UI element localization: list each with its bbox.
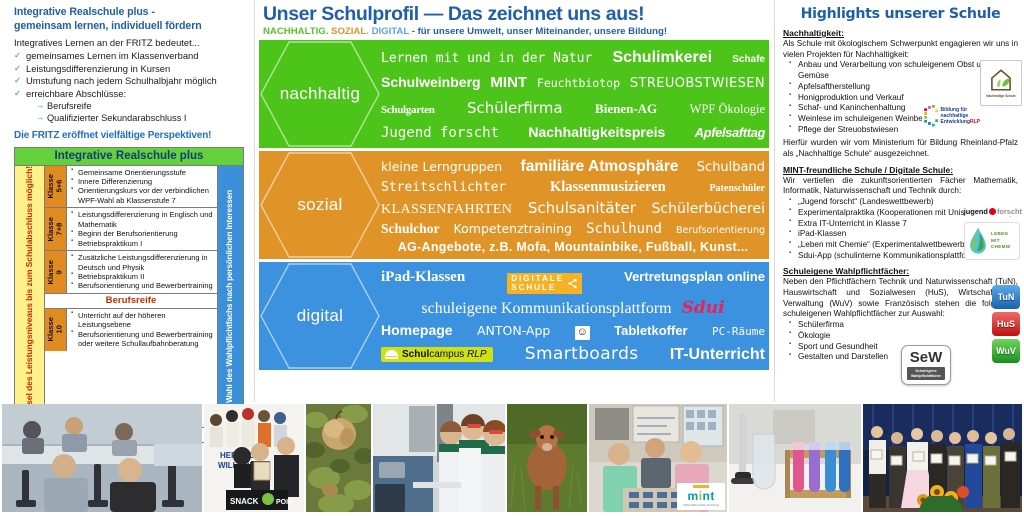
list-item: Orientierungskurs vor der verbindlichen … — [71, 186, 214, 205]
list-item: ✓erreichbare Abschlüsse: — [14, 88, 246, 101]
hexagon-sozial: sozial — [259, 151, 381, 259]
left-title: Integrative Realschule plus - gemeinsam … — [14, 6, 246, 33]
smiley-icon: ☺ — [575, 326, 590, 340]
word-kleine-lerngruppen: kleine Lerngruppen — [381, 159, 502, 174]
photo-graduation-art — [863, 404, 1022, 512]
word-feuchtbiotop: Feuchtbiotop — [537, 76, 620, 90]
grade-label-10: Klasse10 — [45, 309, 67, 351]
wordcloud-row: Homepage ANTON-App ☺ Tabletkoffer PC-Räu… — [381, 322, 765, 340]
photo-chemistry-art — [373, 404, 505, 512]
highlights-title: Highlights unserer Schule — [783, 6, 1018, 22]
logo-bne-rlp: Bildung für nachhaltige EntwicklungRLP — [922, 93, 980, 139]
list-item: Betriebspraktikum II — [71, 272, 214, 281]
badge-sdui: Sdui — [682, 298, 725, 318]
list-item: Leistungsdifferenzierung in Englisch und… — [71, 210, 214, 229]
grade-content-9: Zusätzliche Leistungsdifferenzierung in … — [67, 251, 217, 293]
word-tabletkoffer: Tabletkoffer — [614, 323, 687, 338]
word-lernen-natur: Lernen mit und in der Natur — [381, 51, 592, 66]
left-intro: Integratives Lernen an der FRITZ bedeute… — [14, 37, 246, 48]
section-heading: Schuleigene Wahlpflichtfächer: — [783, 266, 1018, 276]
svg-text:SNACK: SNACK — [230, 497, 259, 506]
word-mint: MINT — [490, 74, 527, 91]
mint-cap-icon — [693, 485, 709, 488]
table-row: Klasse10 Unterricht auf der höheren Leis… — [45, 309, 217, 351]
arrow-right-icon: → — [36, 112, 45, 123]
word-schulsanitaeter: Schulsanitäter — [528, 199, 636, 217]
school-profile-poster: Integrative Realschule plus - gemeinsam … — [0, 0, 1024, 516]
hexagon-label: nachhaltig — [280, 84, 361, 104]
check-icon: ✓ — [14, 63, 21, 74]
house-leaf-icon — [988, 68, 1014, 92]
list-item: Pflege der Streuobstwiesen — [789, 125, 1018, 136]
wordcloud-row: kleine Lerngruppen familiäre Atmosphäre … — [381, 158, 765, 176]
section-paragraph: Neben den Pflichtfächern Technik und Nat… — [783, 277, 1018, 320]
list-item: Gemeinsame Orientierungsstufe — [71, 168, 214, 177]
word-patenschueler: Patenschüler — [709, 183, 765, 194]
table-row: Klasse7+8 Leistungsdifferenzierung in En… — [45, 208, 217, 251]
word-schulimkerei: Schulimkerei — [612, 49, 712, 67]
list-item: Ökologie — [789, 331, 1018, 342]
circle-icon — [989, 208, 996, 215]
right-column: Highlights unserer Schule Nachhaltigkeit… — [775, 0, 1024, 402]
section-paragraph: Als Schule mit ökologischem Schwerpunkt … — [783, 39, 1018, 60]
section-footnote: Hierfür wurden wir vom Ministerium für B… — [783, 138, 1018, 159]
badge-schulcampus-rlp: RLP — [467, 349, 486, 360]
word-schafe: Schafe — [732, 54, 765, 65]
subtitle-digital: DIGITAL — [372, 26, 410, 37]
bne-swirl-icon — [922, 96, 939, 136]
list-item: →Berufsreife — [36, 100, 246, 112]
word-streitschlichter: Streitschlichter — [381, 180, 506, 195]
list-item: ✓gemeinsames Lernen im Klassenverband — [14, 50, 246, 63]
book-icon — [385, 350, 398, 359]
photo-chemistry-lab — [373, 404, 505, 512]
wordcloud-row: Lernen mit und in der Natur Schulimkerei… — [381, 49, 765, 67]
list-item: Berufsorientierung und Bewerbertraining — [71, 281, 214, 290]
word-schulhund: Schulhund — [586, 221, 662, 237]
wordcloud-nachhaltig: Lernen mit und in der Natur Schulimkerei… — [381, 40, 769, 148]
word-vertretungsplan-online: Vertretungsplan online — [624, 269, 765, 284]
list-item: Unterricht auf der höheren Leistungseben… — [71, 311, 214, 330]
wordcloud-sozial: kleine Lerngruppen familiäre Atmosphäre … — [381, 151, 769, 259]
hexagon-label: sozial — [297, 195, 342, 215]
list-item: Weinlese im schuleigenen Weinberg — [789, 114, 1018, 125]
grade-content-10: Unterricht auf der höheren Leistungseben… — [67, 309, 217, 351]
photo-microscopes-classroom — [2, 404, 202, 512]
photo-test-tubes — [729, 404, 861, 512]
word-schuelerfirma: Schülerfirma — [467, 99, 563, 117]
badge-tun: TuN — [992, 285, 1020, 309]
schema-right-axis: Wahl des Wahlpflichtfachs nach persönlic… — [217, 166, 243, 427]
photo-sheep-art — [507, 404, 587, 512]
grade-label-5-6: Klasse5+6 — [45, 166, 67, 208]
badge-mint-freundliche-schule: mint FREUNDLICHE SCHULE — [677, 483, 725, 510]
schema-body: Wechsel des Leistungsniveaus bis zum Sch… — [15, 166, 243, 427]
word-nachhaltigkeitspreis: Nachhaltigkeitspreis — [528, 124, 665, 140]
word-kompetenztraining: Kompetenztraining — [454, 221, 573, 236]
schema-header: Integrative Realschule plus — [15, 148, 243, 166]
logo-leben-mit-chemie: LEBEN MIT CHEMIE — [964, 222, 1020, 260]
badge-digitale-line2: SCHULE — [511, 284, 564, 292]
badge-schulcampus-mid: campus — [429, 349, 464, 360]
photo-snackpoint-art: HERZLICH WILLKOMM SNACK POIN — [204, 404, 304, 512]
list-item: Schülerfirma — [789, 320, 1018, 331]
word-schuelerbuecherei: Schülerbücherei — [652, 201, 765, 217]
left-column: Integrative Realschule plus - gemeinsam … — [0, 0, 255, 402]
wordcloud-row: KLASSENFAHRTEN Schulsanitäter Schülerbüc… — [381, 199, 765, 218]
logo-nachhaltige-caption: Nachhaltige Schule — [986, 94, 1015, 98]
milestone-berufsreife: Berufsreife — [45, 294, 217, 309]
list-item: Betriebspraktikum I — [71, 239, 214, 248]
badge-mint-subtext: FREUNDLICHE SCHULE — [683, 503, 719, 507]
word-bienen-ag: Bienen-AG — [595, 101, 657, 117]
word-klassenfahrten: KLASSENFAHRTEN — [381, 202, 512, 218]
badge-wuv: WuV — [992, 339, 1020, 363]
word-wpf-oekologie: WPF Ökologie — [690, 102, 765, 117]
wordcloud-row: Schulcampus RLP Smartboards IT-Unterrich… — [381, 344, 765, 364]
left-title-line1: Integrative Realschule plus - — [14, 6, 246, 20]
photo-test-tubes-art — [729, 404, 861, 512]
word-ipad-klassen: iPad-Klassen — [381, 269, 465, 286]
subtitle-rest: - für unsere Umwelt, unser Miteinander, … — [409, 26, 667, 37]
badge-mint-text: mint — [683, 489, 719, 503]
photo-sheep — [507, 404, 587, 512]
list-item: Innere Differenzierung — [71, 177, 214, 186]
word-apfelsafttag: Apfelsafttag — [695, 125, 765, 140]
logo-bne-text: Bildung für nachhaltige EntwicklungRLP — [941, 107, 980, 125]
word-streuobstwiesen: STREUOBSTWIESEN — [630, 76, 765, 91]
list-item: ✓Umstufung nach jedem Schulhalbjahr mögl… — [14, 75, 246, 88]
wpf-badge-group: TuN HuS WuV — [992, 285, 1022, 366]
section-heading: Nachhaltigkeit: — [783, 28, 1018, 38]
wordcloud-row: Schulgarten Schülerfirma Bienen-AG WPF Ö… — [381, 99, 765, 117]
word-schulchor: Schulchor — [381, 221, 440, 237]
wordcloud-row: iPad-Klassen DIGITALE SCHULE Vertret — [381, 269, 765, 294]
left-footer-slogan: Die FRITZ eröffnet vielfältige Perspekti… — [14, 130, 246, 141]
page-title: Unser Schulprofil — Das zeichnet uns aus… — [259, 4, 768, 25]
logo-jufo-forscht: forscht — [997, 207, 1022, 216]
wordcloud-row: schuleigene Kommunikationsplattform Sdui — [381, 298, 765, 318]
subtitle-nachhaltig: NACHHALTIG. — [263, 26, 328, 37]
schema-left-axis: Wechsel des Leistungsniveaus bis zum Sch… — [15, 166, 45, 427]
wordcloud-row: Streitschlichter Klassenmusizieren Paten… — [381, 179, 765, 196]
photo-apple-tree — [306, 404, 371, 512]
logo-sew-caption: Schuleigene Wahlpflichtfächer — [907, 367, 945, 379]
page-subtitle: NACHHALTIG. SOZIAL. DIGITAL - für unsere… — [259, 26, 768, 37]
hexagon-digital: digital — [259, 262, 381, 370]
photo-graduation — [863, 404, 1022, 512]
section-paragraph: Wir vertiefen die zukunftsorientierten F… — [783, 176, 1018, 197]
left-title-line2: gemeinsam lernen, individuell fördern — [14, 20, 246, 34]
logo-sew: SeW Schuleigene Wahlpflichtfächer — [901, 345, 951, 385]
subtitle-sozial: SOZIAL. — [331, 26, 369, 37]
arrow-right-icon: → — [36, 100, 45, 111]
section-heading: MINT-freundliche Schule / Digitale Schul… — [783, 165, 1018, 175]
photo-apple-art — [306, 404, 371, 512]
band-nachhaltig: nachhaltig Lernen mit und in der Natur S… — [259, 40, 769, 148]
band-digital: digital iPad-Klassen DIGITALE SCHULE — [259, 262, 769, 370]
badge-digitale-schule: DIGITALE SCHULE — [507, 273, 582, 294]
photo-strip: HERZLICH WILLKOMM SNACK POIN — [0, 402, 1024, 516]
badge-hus: HuS — [992, 312, 1020, 336]
logo-jugend-forscht: jugend forscht — [964, 207, 1022, 216]
photo-snackpoint-award: HERZLICH WILLKOMM SNACK POIN — [204, 404, 304, 512]
left-check-list: ✓gemeinsames Lernen im Klassenverband ✓L… — [14, 50, 246, 100]
left-arrow-list: →Berufsreife →Qualifizierter Sekundarabs… — [36, 100, 246, 124]
word-schulweinberg: Schulweinberg — [381, 74, 481, 90]
logo-lmc-line1: LEBEN — [991, 231, 1011, 237]
check-icon: ✓ — [14, 75, 21, 86]
logo-bne-line3: EntwicklungRLP — [941, 119, 980, 125]
grade-label-9: Klasse9 — [45, 251, 67, 293]
photo-classroom-project: mint FREUNDLICHE SCHULE — [589, 404, 727, 512]
grade-label-7-8: Klasse7+8 — [45, 208, 67, 250]
logo-jufo-jugend: jugend — [964, 207, 988, 216]
water-drop-leaf-icon — [967, 226, 989, 256]
word-klassenmusizieren: Klassenmusizieren — [550, 179, 666, 196]
word-schulgarten: Schulgarten — [381, 104, 435, 116]
schema-diagram: Integrative Realschule plus Wechsel des … — [14, 147, 244, 443]
center-column: Unser Schulprofil — Das zeichnet uns aus… — [255, 0, 775, 402]
table-row: Klasse9 Zusätzliche Leistungsdifferenzie… — [45, 251, 217, 294]
word-familiaere-atmosphaere: familiäre Atmosphäre — [521, 158, 679, 176]
grade-content-5-6: Gemeinsame Orientierungsstufe Innere Dif… — [67, 166, 217, 208]
word-berufsorientierung: Berufsorientierung — [676, 225, 765, 236]
logo-lmc-text: LEBEN MIT CHEMIE — [991, 231, 1011, 250]
word-jugend-forscht: Jugend forscht — [381, 125, 499, 141]
wordcloud-row: Schulchor Kompetenztraining Schulhund Be… — [381, 221, 765, 237]
list-item: Zusätzliche Leistungsdifferenzierung in … — [71, 253, 214, 272]
list-item: Berufsorientierung und Bewerbertraining … — [71, 330, 214, 349]
check-icon: ✓ — [14, 50, 21, 61]
grade-content-7-8: Leistungsdifferenzierung in Englisch und… — [67, 208, 217, 250]
top-area: Integrative Realschule plus - gemeinsam … — [0, 0, 1024, 402]
word-schulband: Schulband — [697, 160, 765, 175]
logo-lmc-line3: CHEMIE — [991, 244, 1011, 250]
wordcloud-row: Schulweinberg MINT Feuchtbiotop STREUOBS… — [381, 74, 765, 91]
word-homepage: Homepage — [381, 322, 453, 338]
check-icon: ✓ — [14, 88, 21, 99]
schema-rows: Klasse5+6 Gemeinsame Orientierungsstufe … — [45, 166, 217, 427]
list-item: →Qualifizierter Sekundarabschluss I — [36, 112, 246, 124]
badge-schulcampus-rlp: Schulcampus RLP — [381, 347, 493, 362]
word-anton-app: ANTON-App — [477, 323, 550, 338]
share-icon — [567, 278, 578, 289]
hexagon-nachhaltig: nachhaltig — [259, 40, 381, 148]
word-it-unterricht: IT-Unterricht — [670, 346, 765, 364]
hexagon-label: digital — [297, 306, 344, 326]
wordcloud-row: AG-Angebote, z.B. Mofa, Mountainbike, Fu… — [381, 240, 765, 254]
band-sozial: sozial kleine Lerngruppen familiäre Atmo… — [259, 151, 769, 259]
word-ag-angebote: AG-Angebote, z.B. Mofa, Mountainbike, Fu… — [398, 240, 749, 254]
wordcloud-digital: iPad-Klassen DIGITALE SCHULE Vertret — [381, 262, 769, 370]
logo-sew-abbr: SeW — [910, 350, 943, 365]
table-row: Klasse5+6 Gemeinsame Orientierungsstufe … — [45, 166, 217, 209]
badge-schulcampus-bold: Schul — [402, 349, 429, 360]
svg-text:POIN: POIN — [276, 499, 293, 506]
list-item: Beginn der Berufsorientierung — [71, 229, 214, 238]
list-item: ✓Leistungsdifferenzierung in Kursen — [14, 63, 246, 76]
wordcloud-row: Jugend forscht Nachhaltigkeitspreis Apfe… — [381, 124, 765, 141]
word-pc-raeume: PC-Räume — [712, 325, 765, 338]
word-kommunikationsplattform: schuleigene Kommunikationsplattform — [421, 300, 671, 318]
word-smartboards: Smartboards — [525, 344, 639, 364]
photo-microscopes-art — [2, 404, 202, 512]
